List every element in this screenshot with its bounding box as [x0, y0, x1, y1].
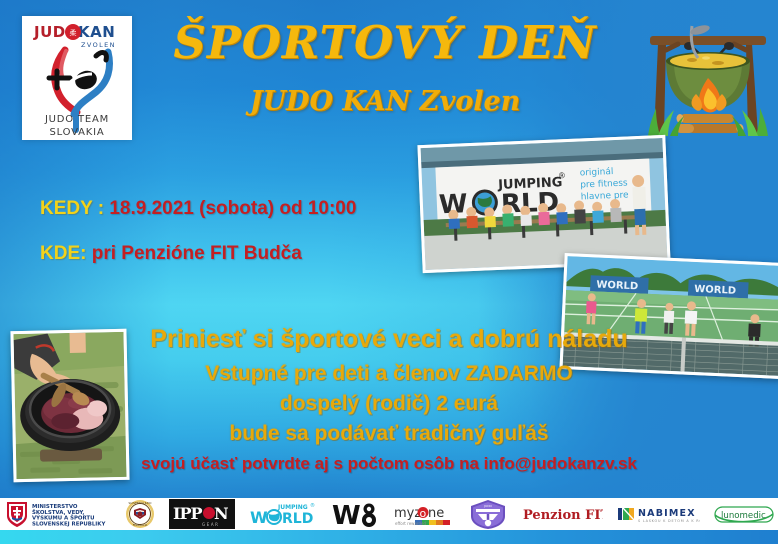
- svg-text:WORLD: WORLD: [596, 279, 638, 292]
- svg-text:RLD: RLD: [282, 511, 313, 527]
- svg-text:GEAR: GEAR: [202, 522, 220, 527]
- event-place-line: KDE: pri Penzióne FIT Budča: [40, 243, 302, 265]
- svg-text:WORLD: WORLD: [694, 284, 736, 297]
- svg-text:ne: ne: [428, 506, 444, 521]
- sponsor-lunomedic: lunomedic: [713, 499, 775, 529]
- sponsor-sjf-shield: JUDO: [468, 499, 508, 529]
- svg-text:NABIMEX: NABIMEX: [638, 508, 696, 519]
- photo-goulash-cooking: [10, 329, 129, 482]
- svg-text:KAN: KAN: [78, 23, 115, 41]
- svg-text:myz: myz: [394, 506, 421, 521]
- event-date-label: KEDY :: [40, 198, 104, 219]
- svg-text:lunomedic: lunomedic: [721, 511, 766, 521]
- sponsor-jumping-world: W RLD JUMPING ®: [248, 499, 318, 529]
- goulash-cauldron-illustration: [640, 6, 776, 142]
- svg-text:IPP: IPP: [173, 504, 203, 523]
- svg-text:®: ®: [310, 502, 315, 509]
- svg-text:W: W: [332, 501, 361, 529]
- sponsor-myzone: myz o ne effort rewarded: [393, 499, 455, 529]
- sponsor-slovenska-judo-federacia: SLOVENSKÁ JUDO FEDERÁCIA: [124, 499, 156, 529]
- svg-text:hlavne pre: hlavne pre: [581, 190, 630, 202]
- bottom-accent-strip: [0, 530, 778, 544]
- sponsor-ippon-gear: IPP N GEAR: [169, 499, 235, 529]
- sponsor-ministerstvo-skolstva: MINISTERSTVO ŠKOLSTVA, VEDY, VÝSKUMU A Š…: [3, 499, 111, 529]
- event-date-line: KEDY : 18.9.2021 (sobota) od 10:00: [40, 198, 356, 220]
- event-place-label: KDE:: [40, 243, 86, 264]
- judokan-club-logo: JUD KAN 柔 ZVOLEN JUDO TEAM SLOVAKIA: [22, 16, 132, 140]
- svg-text:JUDO: JUDO: [483, 504, 492, 508]
- svg-text:N: N: [214, 504, 228, 523]
- svg-text:SLOVAKIA: SLOVAKIA: [49, 127, 104, 138]
- poster-subtitle: JUDO KAN Zvolen: [150, 86, 620, 117]
- event-place-value: pri Penzióne FIT Budča: [92, 243, 302, 264]
- photo-sports-court: WORLD WORLD: [559, 253, 778, 379]
- svg-text:originál: originál: [580, 167, 614, 178]
- svg-text:effort rewarded: effort rewarded: [395, 521, 426, 526]
- svg-text:S LASKOU K DETOM A K RODINE: S LASKOU K DETOM A K RODINE: [638, 519, 700, 523]
- poster-root: JUD KAN 柔 ZVOLEN JUDO TEAM SLOVAKIA: [0, 0, 778, 544]
- sponsor-nabimex: NABIMEX S LASKOU K DETOM A K RODINE: [616, 499, 700, 529]
- photo-jumping-world: JUMPING W RLD ® originál pre fitness hla…: [417, 135, 670, 273]
- sponsor-w8: W: [331, 499, 381, 529]
- svg-text:Penzion FIT: Penzion FIT: [523, 508, 603, 523]
- svg-text:ZVOLEN: ZVOLEN: [81, 41, 116, 49]
- svg-text:JUD: JUD: [33, 23, 66, 41]
- svg-text:柔: 柔: [70, 28, 77, 37]
- svg-text:W: W: [250, 508, 268, 527]
- svg-text:JUMPING: JUMPING: [277, 504, 308, 511]
- sponsor-logo-bar: MINISTERSTVO ŠKOLSTVA, VEDY, VÝSKUMU A Š…: [0, 498, 778, 530]
- svg-text:o: o: [420, 507, 427, 520]
- svg-text:®: ®: [558, 171, 566, 180]
- svg-text:JUDO TEAM: JUDO TEAM: [44, 114, 109, 125]
- event-date-value: 18.9.2021 (sobota) od 10:00: [109, 198, 356, 219]
- poster-title: ŠPORTOVÝ DEŇ: [150, 16, 620, 69]
- svg-text:pre fitness: pre fitness: [580, 178, 628, 190]
- sponsor-penzion-fit: Penzion FIT: [521, 499, 603, 529]
- svg-text:SLOVENSKEJ REPUBLIKY: SLOVENSKEJ REPUBLIKY: [32, 521, 105, 527]
